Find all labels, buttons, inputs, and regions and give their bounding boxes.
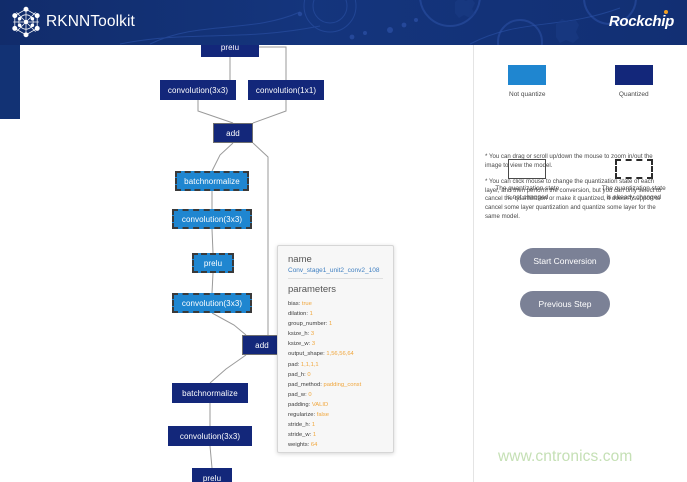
parameter-row: pad_method: padding_const <box>288 380 383 390</box>
graph-node-convolution3x3[interactable]: convolution(3x3) <box>172 293 252 313</box>
graph-node-convolution3x3[interactable]: convolution(3x3) <box>160 80 236 100</box>
parameter-row: dilation: 1 <box>288 309 383 319</box>
parameter-row: weights: 64 <box>288 440 383 450</box>
parameter-row: pad: 1,1,1,1 <box>288 360 383 370</box>
graph-node-batchnormalize[interactable]: batchnormalize <box>172 383 248 403</box>
legend-item-quantized: Quantized <box>581 65 687 100</box>
parameter-key: padding: <box>288 402 310 408</box>
graph-node-add[interactable]: add <box>242 335 282 355</box>
detail-parameters-heading: parameters <box>288 284 383 295</box>
parameter-value: 1 <box>313 432 316 438</box>
detail-layer-name: Conv_stage1_unit2_conv2_108 <box>288 267 383 279</box>
parameter-row: stride_h: 1 <box>288 420 383 430</box>
brand-title: RKNNToolkit <box>46 13 135 31</box>
parameter-value: true <box>302 301 312 307</box>
previous-step-button[interactable]: Previous Step <box>520 291 610 317</box>
parameter-key: pad_h: <box>288 372 306 378</box>
detail-name-heading: name <box>288 254 383 265</box>
help-note-zoom: * You can drag or scroll up/down the mou… <box>485 153 663 170</box>
graph-node-batchnormalize[interactable]: batchnormalize <box>175 171 249 191</box>
vendor-logo: Rockchip <box>609 13 674 30</box>
neural-network-icon <box>10 6 42 38</box>
graph-edges <box>20 45 473 482</box>
help-notes: * You can drag or scroll up/down the mou… <box>485 153 663 229</box>
parameter-key: stride_w: <box>288 432 311 438</box>
vendor-logo-text: Rockchip <box>609 13 674 30</box>
legend-label-quantized: Quantized <box>619 91 649 100</box>
legend-row-1: Not quantize Quantized <box>474 65 687 100</box>
left-accent-bar <box>0 45 20 119</box>
brand: RKNNToolkit <box>10 6 135 38</box>
model-graph-canvas[interactable]: preluconvolution(3x3)convolution(1x1)add… <box>20 45 473 482</box>
detail-parameter-list: bias: truedilation: 1group_number: 1ksiz… <box>288 299 383 450</box>
parameter-row: output_shape: 1,56,56,64 <box>288 349 383 359</box>
parameter-row: stride_w: 1 <box>288 430 383 440</box>
parameter-key: dilation: <box>288 311 308 317</box>
parameter-row: ksize_h: 3 <box>288 329 383 339</box>
graph-node-prelu[interactable]: prelu <box>192 253 234 273</box>
parameter-key: weights: <box>288 442 309 448</box>
parameter-row: ksize_w: 3 <box>288 339 383 349</box>
parameter-key: pad_w: <box>288 392 307 398</box>
parameter-key: ksize_h: <box>288 331 309 337</box>
graph-node-add[interactable]: add <box>213 123 253 143</box>
legend-item-not-quantize: Not quantize <box>474 65 581 100</box>
parameter-key: stride_h: <box>288 422 310 428</box>
parameter-key: pad_method: <box>288 382 322 388</box>
help-note-quantization: * You can click mouse to change the quan… <box>485 178 663 221</box>
parameter-key: pad: <box>288 362 299 368</box>
start-conversion-button[interactable]: Start Conversion <box>520 248 610 274</box>
parameter-value: 3 <box>312 341 315 347</box>
parameter-value: 1,1,1,1 <box>301 362 319 368</box>
parameter-value: 0 <box>308 392 311 398</box>
parameter-row: pad_h: 0 <box>288 370 383 380</box>
app-root: RKNNToolkit Rockchip <box>0 0 687 482</box>
graph-node-prelu[interactable]: prelu <box>192 468 232 482</box>
parameter-value: padding_const <box>323 382 361 388</box>
app-header: RKNNToolkit Rockchip <box>0 0 687 45</box>
parameter-value: VALID <box>312 402 328 408</box>
legend-label-not-quantize: Not quantize <box>509 91 546 100</box>
parameter-value: 1,56,56,64 <box>326 351 353 357</box>
parameter-value: 1 <box>312 422 315 428</box>
parameter-key: regularize: <box>288 412 315 418</box>
parameter-key: group_number: <box>288 321 327 327</box>
parameter-row: bias: true <box>288 299 383 309</box>
graph-node-convolution3x3[interactable]: convolution(3x3) <box>172 209 252 229</box>
graph-node-prelu[interactable]: prelu <box>201 45 259 57</box>
parameter-key: ksize_w: <box>288 341 310 347</box>
parameter-row: pad_w: 0 <box>288 390 383 400</box>
parameter-value: 1 <box>310 311 313 317</box>
filled-light-blue-swatch <box>508 65 546 85</box>
parameter-key: bias: <box>288 301 300 307</box>
side-panel: Not quantize Quantized The quantization … <box>474 45 687 482</box>
parameter-value: 1 <box>329 321 332 327</box>
parameter-value: false <box>317 412 329 418</box>
parameter-row: padding: VALID <box>288 400 383 410</box>
parameter-value: 64 <box>311 442 317 448</box>
vendor-logo-dot-icon <box>664 10 668 14</box>
parameter-row: group_number: 1 <box>288 319 383 329</box>
parameter-value: 3 <box>311 331 314 337</box>
watermark-text: www.cntronics.com <box>498 448 632 466</box>
parameter-key: output_shape: <box>288 351 325 357</box>
graph-node-convolution3x3[interactable]: convolution(3x3) <box>168 426 252 446</box>
filled-dark-blue-swatch <box>615 65 653 85</box>
parameter-row: regularize: false <box>288 410 383 420</box>
graph-node-convolution1x1[interactable]: convolution(1x1) <box>248 80 324 100</box>
parameter-value: 0 <box>307 372 310 378</box>
layer-detail-card: name Conv_stage1_unit2_conv2_108 paramet… <box>277 245 394 453</box>
